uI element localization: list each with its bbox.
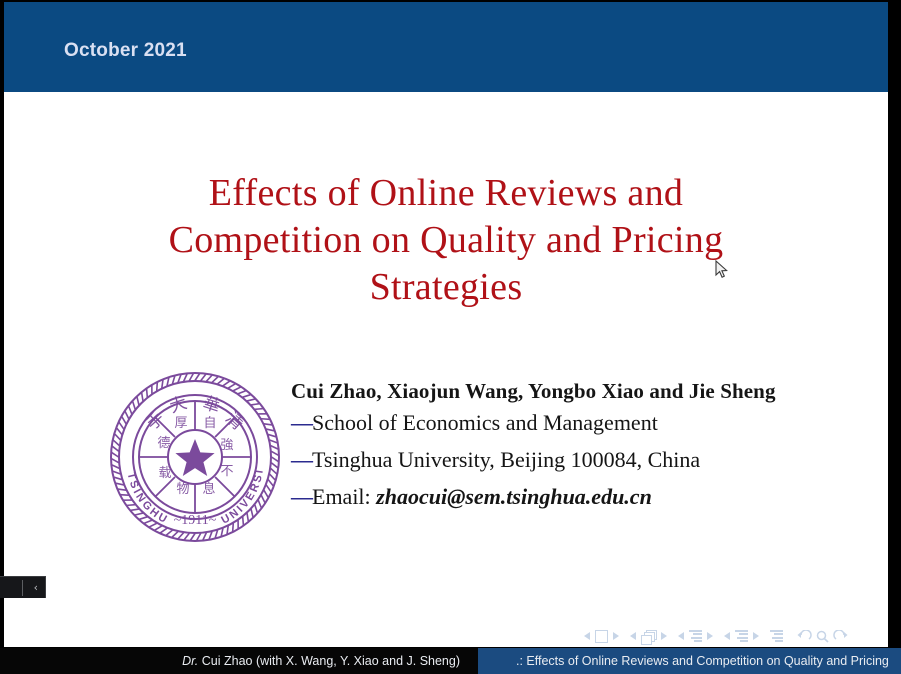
footer-presenter: Dr. Cui Zhao (with X. Wang, Y. Xiao and … (0, 648, 478, 674)
next-subsection-icon[interactable] (707, 632, 713, 640)
search-icon[interactable] (815, 630, 830, 643)
next-section-icon[interactable] (753, 632, 759, 640)
forward-arrow-icon[interactable] (833, 630, 848, 643)
em-dash-3: — (291, 484, 312, 509)
svg-text:不: 不 (220, 464, 233, 479)
email-address[interactable]: zhaocui@sem.tsinghua.edu.cn (376, 484, 652, 509)
nav-group-subsection (678, 630, 713, 642)
svg-text:華: 華 (200, 393, 222, 417)
next-frame-icon[interactable] (613, 632, 619, 640)
stacked-slides-icon[interactable] (641, 630, 656, 643)
collapse-sidebar-handle[interactable]: ‹ (0, 576, 46, 598)
nav-group-slide (630, 630, 667, 643)
svg-text:厚: 厚 (174, 416, 187, 431)
pdf-presentation-viewer: October 2021 Effects of Online Reviews a… (0, 0, 901, 674)
document-lines-icon[interactable] (770, 630, 783, 642)
title-line-2: Competition on Quality and Pricing (4, 217, 888, 264)
footer-presenter-text: Dr. Cui Zhao (with X. Wang, Y. Xiao and … (182, 654, 460, 668)
footer-talk-title: .: Effects of Online Reviews and Competi… (478, 648, 901, 674)
back-arrow-icon[interactable] (797, 630, 812, 643)
footer-presenter-title: Dr. (182, 654, 198, 668)
slide-canvas: October 2021 Effects of Online Reviews a… (4, 2, 888, 647)
subsection-lines-icon[interactable] (689, 630, 702, 642)
author-block: Cui Zhao, Xiaojun Wang, Yongbo Xiao and … (291, 378, 851, 515)
section-lines-icon[interactable] (735, 630, 748, 642)
prev-frame-icon[interactable] (584, 632, 590, 640)
viewer-footer: Dr. Cui Zhao (with X. Wang, Y. Xiao and … (0, 648, 901, 674)
svg-text:物: 物 (176, 482, 189, 497)
footer-presenter-name: Cui Zhao (with X. Wang, Y. Xiao and J. S… (198, 654, 460, 668)
email-label: Email: (312, 484, 371, 509)
svg-text:~1911~: ~1911~ (174, 513, 217, 528)
beamer-navigation-bar[interactable] (584, 626, 848, 646)
svg-text:自: 自 (203, 416, 216, 431)
em-dash-1: — (291, 410, 312, 435)
affiliation-text-2: Tsinghua University, Beijing 100084, Chi… (312, 447, 700, 472)
prev-slide-icon[interactable] (630, 632, 636, 640)
prev-subsection-icon[interactable] (678, 632, 684, 640)
slide-title: Effects of Online Reviews and Competitio… (4, 170, 888, 311)
footer-talk-title-text: .: Effects of Online Reviews and Competi… (516, 654, 889, 668)
viewer-right-margin (888, 0, 901, 648)
svg-text:大: 大 (167, 393, 189, 417)
slide-frame-icon[interactable] (595, 630, 608, 643)
affiliation-line-1: —School of Economics and Management (291, 404, 851, 441)
nav-group-frame (584, 630, 619, 643)
prev-section-icon[interactable] (724, 632, 730, 640)
title-line-3: Strategies (4, 264, 888, 311)
svg-text:強: 強 (220, 438, 233, 453)
affiliation-text-1: School of Economics and Management (312, 410, 658, 435)
svg-text:载: 载 (158, 466, 171, 481)
slide-header-band: October 2021 (4, 2, 888, 92)
handle-divider (22, 580, 23, 596)
nav-group-document (770, 630, 783, 642)
next-slide-icon[interactable] (661, 632, 667, 640)
nav-group-section (724, 630, 759, 642)
svg-text:德: 德 (157, 436, 170, 451)
em-dash-2: — (291, 447, 312, 472)
title-line-1: Effects of Online Reviews and (4, 170, 888, 217)
affiliation-line-2: —Tsinghua University, Beijing 100084, Ch… (291, 441, 851, 478)
chevron-left-icon[interactable]: ‹ (34, 582, 38, 593)
svg-text:息: 息 (202, 481, 215, 497)
author-names: Cui Zhao, Xiaojun Wang, Yongbo Xiao and … (291, 378, 851, 404)
slide-date: October 2021 (64, 40, 187, 62)
email-line: —Email: zhaocui@sem.tsinghua.edu.cn (291, 478, 851, 515)
tsinghua-seal-icon: 手 大 華 清 厚 自 德 強 载 不 物 息 (107, 369, 283, 545)
